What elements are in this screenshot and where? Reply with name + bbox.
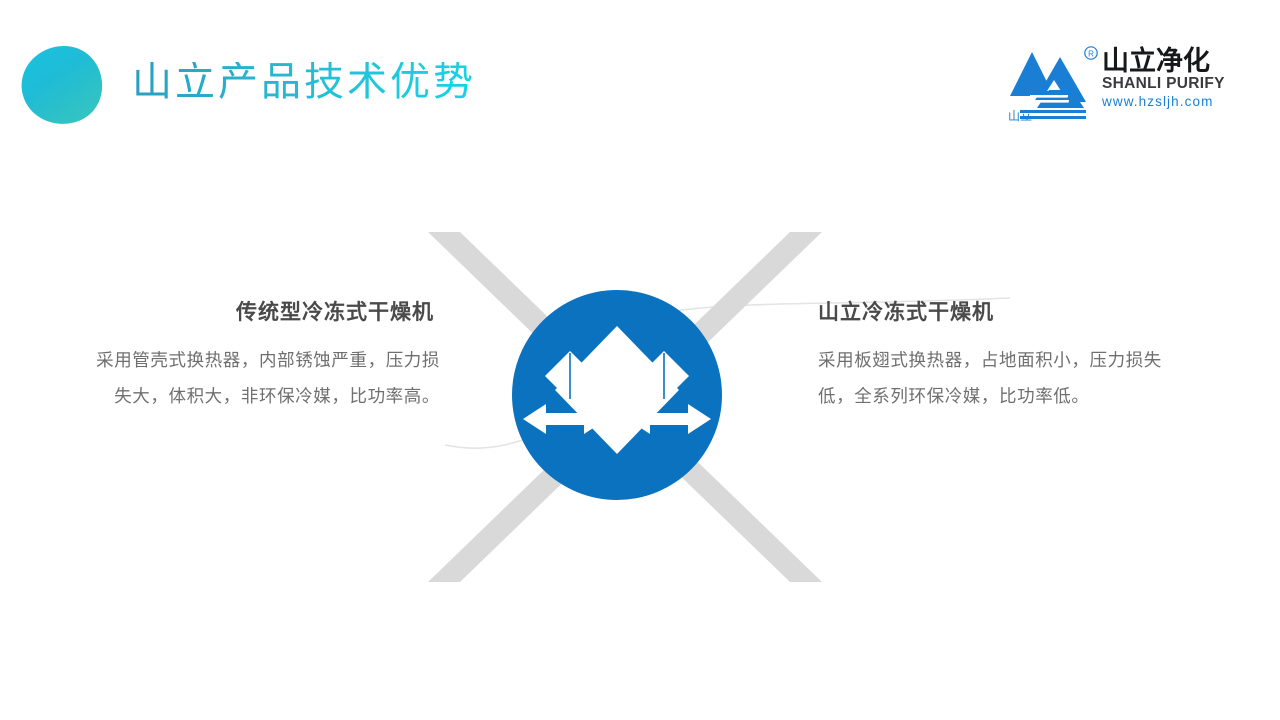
logo-url: www.hzsljh.com (1102, 93, 1222, 111)
organic-blob-icon (18, 45, 106, 125)
logo-wordmark: 山立净化 SHANLI PURIFY www.hzsljh.com (1102, 47, 1222, 111)
column-traditional-body: 采用管壳式换热器，内部锈蚀严重，压力损失大，体积大，非环保冷媒，比功率高。 (95, 343, 440, 415)
column-shanli: 山立冷冻式干燥机 采用板翅式换热器，占地面积小，压力损失低，全系列环保冷媒，比功… (818, 300, 1163, 415)
logo-brand-cn: 山立净化 (1102, 47, 1222, 75)
column-shanli-title: 山立冷冻式干燥机 (818, 300, 1163, 325)
column-traditional: 传统型冷冻式干燥机 采用管壳式换热器，内部锈蚀严重，压力损失大，体积大，非环保冷… (95, 300, 440, 415)
column-shanli-body: 采用板翅式换热器，占地面积小，压力损失低，全系列环保冷媒，比功率低。 (818, 343, 1163, 415)
slide-header: 山立产品技术优势 (0, 0, 1280, 150)
brand-logo: R 山立 山立净化 SHANLI PURIFY www.hzsljh.com (1006, 44, 1218, 124)
slide-root: 山立产品技术优势 (0, 0, 1280, 720)
column-traditional-title: 传统型冷冻式干燥机 (95, 300, 440, 325)
page-title: 山立产品技术优势 (132, 62, 476, 102)
logo-brand-en: SHANLI PURIFY (1102, 75, 1222, 93)
logo-mark-label: 山立 (1008, 108, 1032, 123)
svg-text:R: R (1088, 50, 1094, 59)
twin-mountain-logo-icon: R 山立 (1006, 44, 1098, 124)
